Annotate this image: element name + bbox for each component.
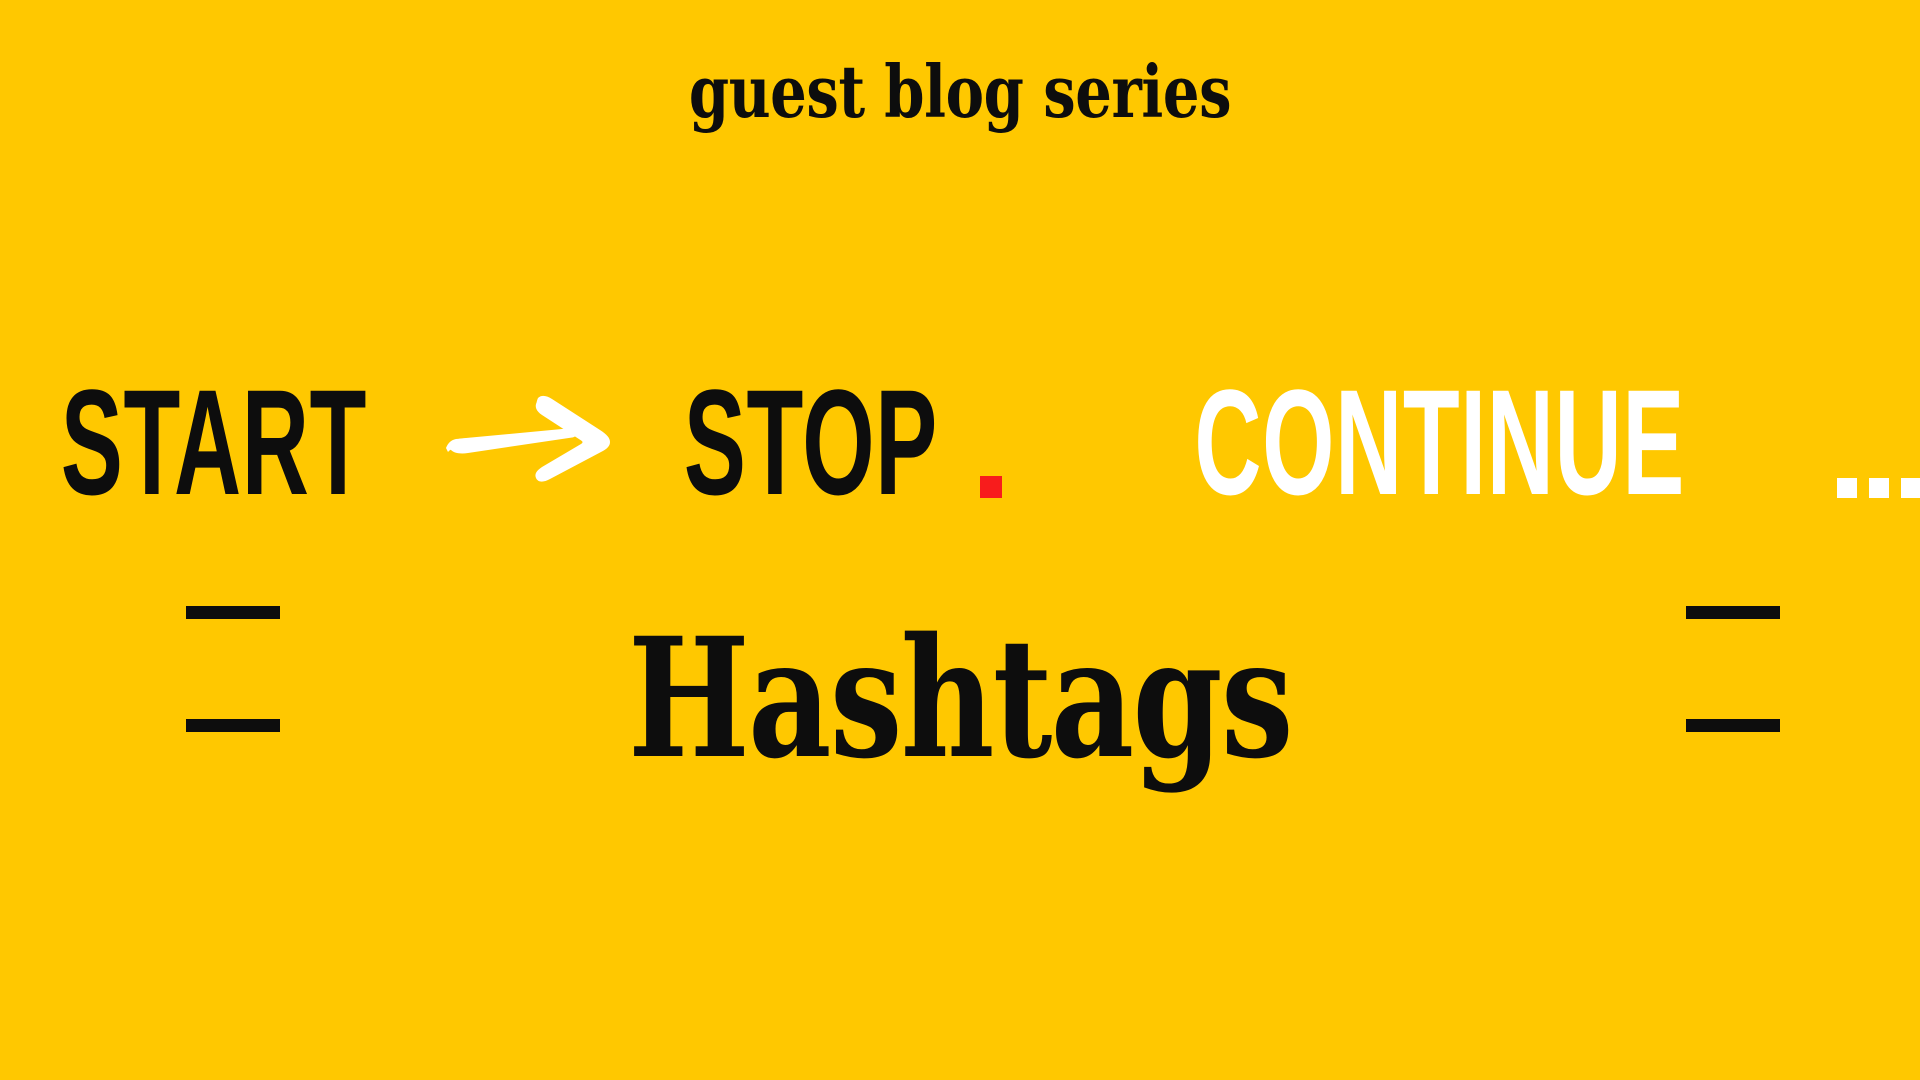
ellipsis-dot — [1869, 478, 1889, 498]
ellipsis-dots — [1837, 478, 1920, 498]
continue-group: CONTINUE — [1088, 376, 1920, 508]
slide-canvas: guest blog series START STOP CONTINUE — [0, 0, 1920, 1080]
red-period-square — [980, 476, 1002, 498]
action-word-row: START STOP CONTINUE — [0, 352, 1920, 532]
page-title: Hashtags — [211, 616, 1709, 781]
stop-group: STOP — [636, 376, 1002, 508]
kicker-title: guest blog series — [192, 56, 1728, 128]
ellipsis-dot — [1837, 478, 1857, 498]
arrow-right-icon — [442, 386, 622, 506]
word-start: START — [60, 376, 366, 508]
word-stop: STOP — [684, 376, 938, 508]
word-continue: CONTINUE — [1194, 376, 1685, 508]
ellipsis-dot — [1901, 478, 1920, 498]
